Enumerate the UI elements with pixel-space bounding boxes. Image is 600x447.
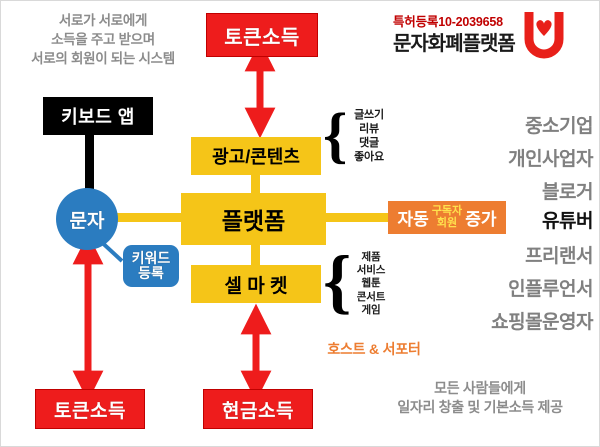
market-item-list: 제품 서비스 웹툰 콘서트 게임: [341, 251, 401, 317]
brand-name: 문자화폐플랫폼: [393, 27, 515, 56]
ad-content-box[interactable]: 광고/콘텐츠: [191, 137, 321, 175]
platform-to-auto-connector: [323, 213, 389, 222]
audience-item-0: 중소기업: [525, 111, 593, 138]
message-to-platform-connector: [114, 213, 186, 222]
member-label: 회원: [437, 218, 457, 230]
list-item: 글쓰기: [354, 109, 384, 123]
auto-prefix-label: 자동: [398, 205, 429, 230]
increase-label: 증가: [465, 205, 496, 230]
token-income-bottom-box[interactable]: 토큰소득: [35, 389, 145, 429]
keyword-register-line1: 키워드: [132, 251, 171, 266]
platform-box[interactable]: 플랫폼: [181, 193, 326, 245]
list-item: 댓글: [359, 137, 379, 151]
audience-item-2: 블로거: [542, 177, 593, 204]
token-income-top-box[interactable]: 토큰소득: [206, 13, 318, 57]
sell-market-box[interactable]: 셀 마 켓: [191, 265, 321, 303]
list-item: 서비스: [357, 264, 385, 277]
content-activity-list: 글쓰기 리뷰 댓글 좋아요: [341, 109, 397, 164]
message-circle-node[interactable]: 문자: [56, 188, 118, 250]
subscriber-label: 구독자: [432, 206, 462, 218]
audience-item-3: 유튜버: [542, 206, 593, 233]
host-supporter-caption: 호스트 & 서포터: [309, 339, 439, 359]
cash-income-box[interactable]: 현금소득: [203, 389, 313, 429]
keyword-register-box[interactable]: 키워드 등록: [123, 245, 179, 287]
auto-subscriber-increase-box[interactable]: 자동 구독자 회원 증가: [388, 201, 506, 234]
subscriber-member-stack: 구독자 회원: [432, 206, 462, 229]
audience-item-1: 개인사업자: [508, 144, 593, 171]
list-item: 웹툰: [362, 277, 381, 290]
list-item: 리뷰: [359, 123, 379, 137]
intro-text: 서로가 서로에게 소득을 주고 받으며 서로의 회원이 되는 시스템: [13, 11, 193, 68]
list-item: 제품: [362, 251, 381, 264]
audience-item-5: 인플루언서: [508, 274, 593, 301]
list-item: 콘서트: [357, 291, 385, 304]
list-item: 게임: [362, 304, 381, 317]
audience-item-4: 프리랜서: [525, 241, 593, 268]
keyboard-app-box[interactable]: 키보드 앱: [43, 97, 153, 135]
diagram-canvas: 특허등록10-2039658 문자화폐플랫폼 서로가 서로에게 소득을 주고 받…: [0, 0, 600, 447]
keyword-register-line2: 등록: [138, 266, 164, 281]
list-item: 좋아요: [354, 151, 384, 165]
audience-item-6: 쇼핑몰운영자: [491, 307, 593, 334]
footer-note: 모든 사람들에게 일자리 창출 및 기본소득 제공: [361, 379, 599, 418]
u-heart-logo-icon: [517, 9, 571, 61]
